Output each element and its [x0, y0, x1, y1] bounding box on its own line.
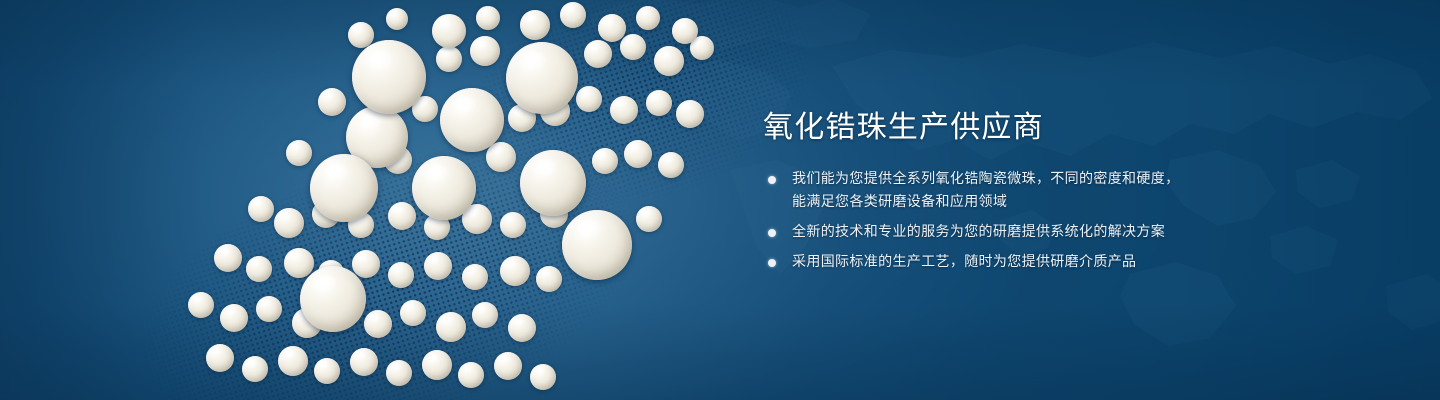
hero-banner: 氧化锆珠生产供应商 我们能为您提供全系列氧化锆陶瓷微珠，不同的密度和硬度， 能满… [0, 0, 1440, 400]
list-item: 采用国际标准的生产工艺，随时为您提供研磨介质产品 [766, 251, 1179, 274]
page-title: 氧化锆珠生产供应商 [763, 110, 1044, 146]
feature-list: 我们能为您提供全系列氧化锆陶瓷微珠，不同的密度和硬度， 能满足您各类研磨设备和应… [766, 168, 1179, 281]
feature-text-line-2: 能满足您各类研磨设备和应用领域 [792, 191, 1179, 214]
feature-text-line-1: 我们能为您提供全系列氧化锆陶瓷微珠，不同的密度和硬度， [792, 171, 1179, 187]
banner-content: 氧化锆珠生产供应商 我们能为您提供全系列氧化锆陶瓷微珠，不同的密度和硬度， 能满… [763, 0, 1403, 400]
list-item: 全新的技术和专业的服务为您的研磨提供系统化的解决方案 [766, 221, 1179, 244]
feature-text-line-1: 全新的技术和专业的服务为您的研磨提供系统化的解决方案 [792, 224, 1165, 240]
list-item: 我们能为您提供全系列氧化锆陶瓷微珠，不同的密度和硬度， 能满足您各类研磨设备和应… [766, 168, 1179, 214]
feature-text-line-1: 采用国际标准的生产工艺，随时为您提供研磨介质产品 [792, 254, 1136, 270]
